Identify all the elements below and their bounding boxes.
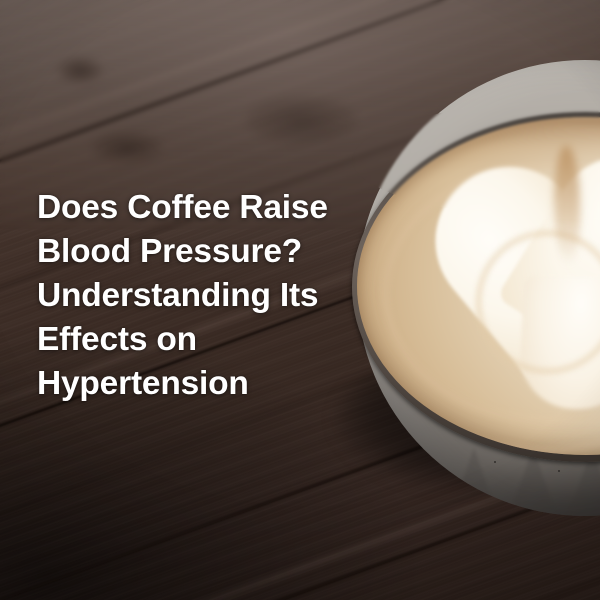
page-title: Does Coffee Raise Blood Pressure? Unders… bbox=[37, 186, 357, 406]
social-graphic-canvas: Does Coffee Raise Blood Pressure? Unders… bbox=[0, 0, 600, 600]
coffee-surface-crema bbox=[357, 117, 600, 455]
latte-art-heart bbox=[449, 155, 600, 414]
